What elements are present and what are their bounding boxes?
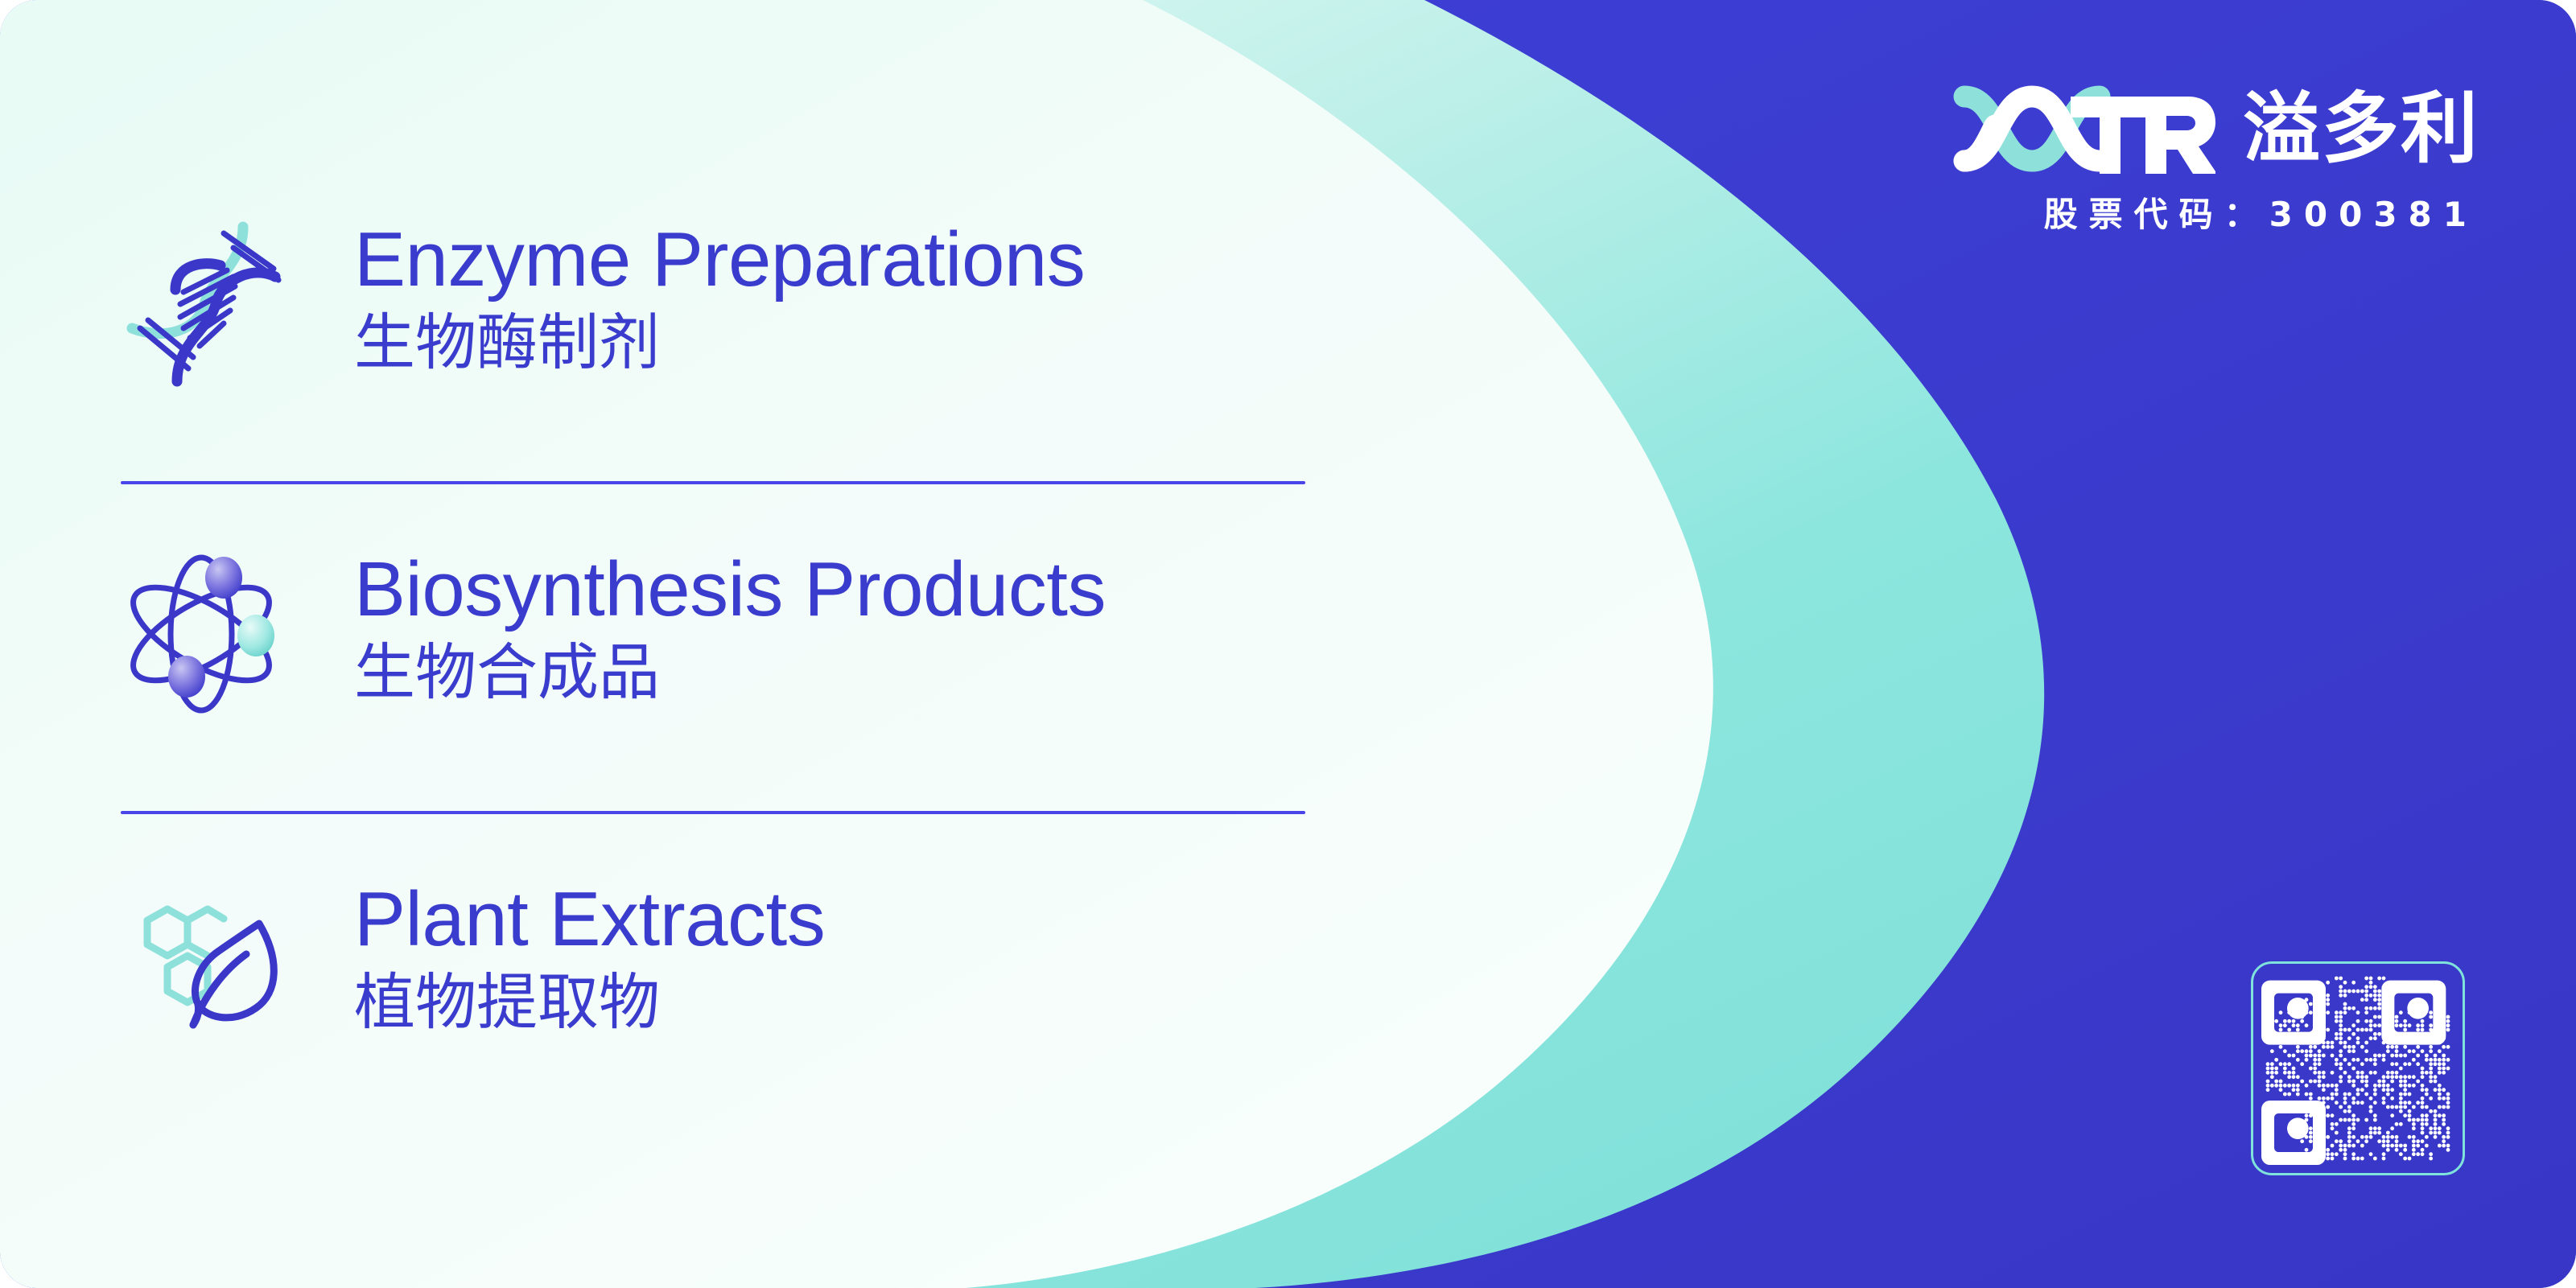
xxtr-logo	[1950, 80, 2215, 177]
item-title-cn: 生物酶制剂	[354, 298, 1085, 387]
qr-code-image	[2261, 972, 2454, 1165]
list-item[interactable]: Enzyme Preparations 生物酶制剂	[121, 216, 1085, 393]
promo-card: Enzyme Preparations 生物酶制剂	[0, 0, 2576, 1288]
item-title-en: Plant Extracts	[354, 881, 825, 958]
list-item[interactable]: Biosynthesis Products 生物合成品	[121, 545, 1106, 722]
list-item[interactable]: Plant Extracts 植物提取物	[121, 875, 825, 1052]
qr-code[interactable]	[2251, 961, 2465, 1175]
logo-row: 溢多利	[1950, 80, 2479, 177]
divider	[121, 811, 1305, 814]
item-text: Enzyme Preparations 生物酶制剂	[354, 221, 1085, 387]
items-column: Enzyme Preparations 生物酶制剂	[0, 0, 1408, 1288]
item-title-en: Biosynthesis Products	[354, 551, 1106, 628]
dna-helix-icon	[121, 216, 282, 393]
item-text: Plant Extracts 植物提取物	[354, 881, 825, 1047]
item-text: Biosynthesis Products 生物合成品	[354, 551, 1106, 717]
item-title-en: Enzyme Preparations	[354, 221, 1085, 298]
logo-cn-text: 溢多利	[2243, 90, 2479, 167]
divider	[121, 481, 1305, 484]
brand-block: 溢多利 股票代码：300381	[1950, 80, 2479, 232]
item-title-cn: 植物提取物	[354, 958, 825, 1047]
item-title-cn: 生物合成品	[354, 628, 1106, 717]
stock-code: 股票代码：300381	[2044, 198, 2479, 232]
atom-molecule-icon	[121, 545, 282, 722]
hexagon-leaf-icon	[121, 875, 282, 1052]
